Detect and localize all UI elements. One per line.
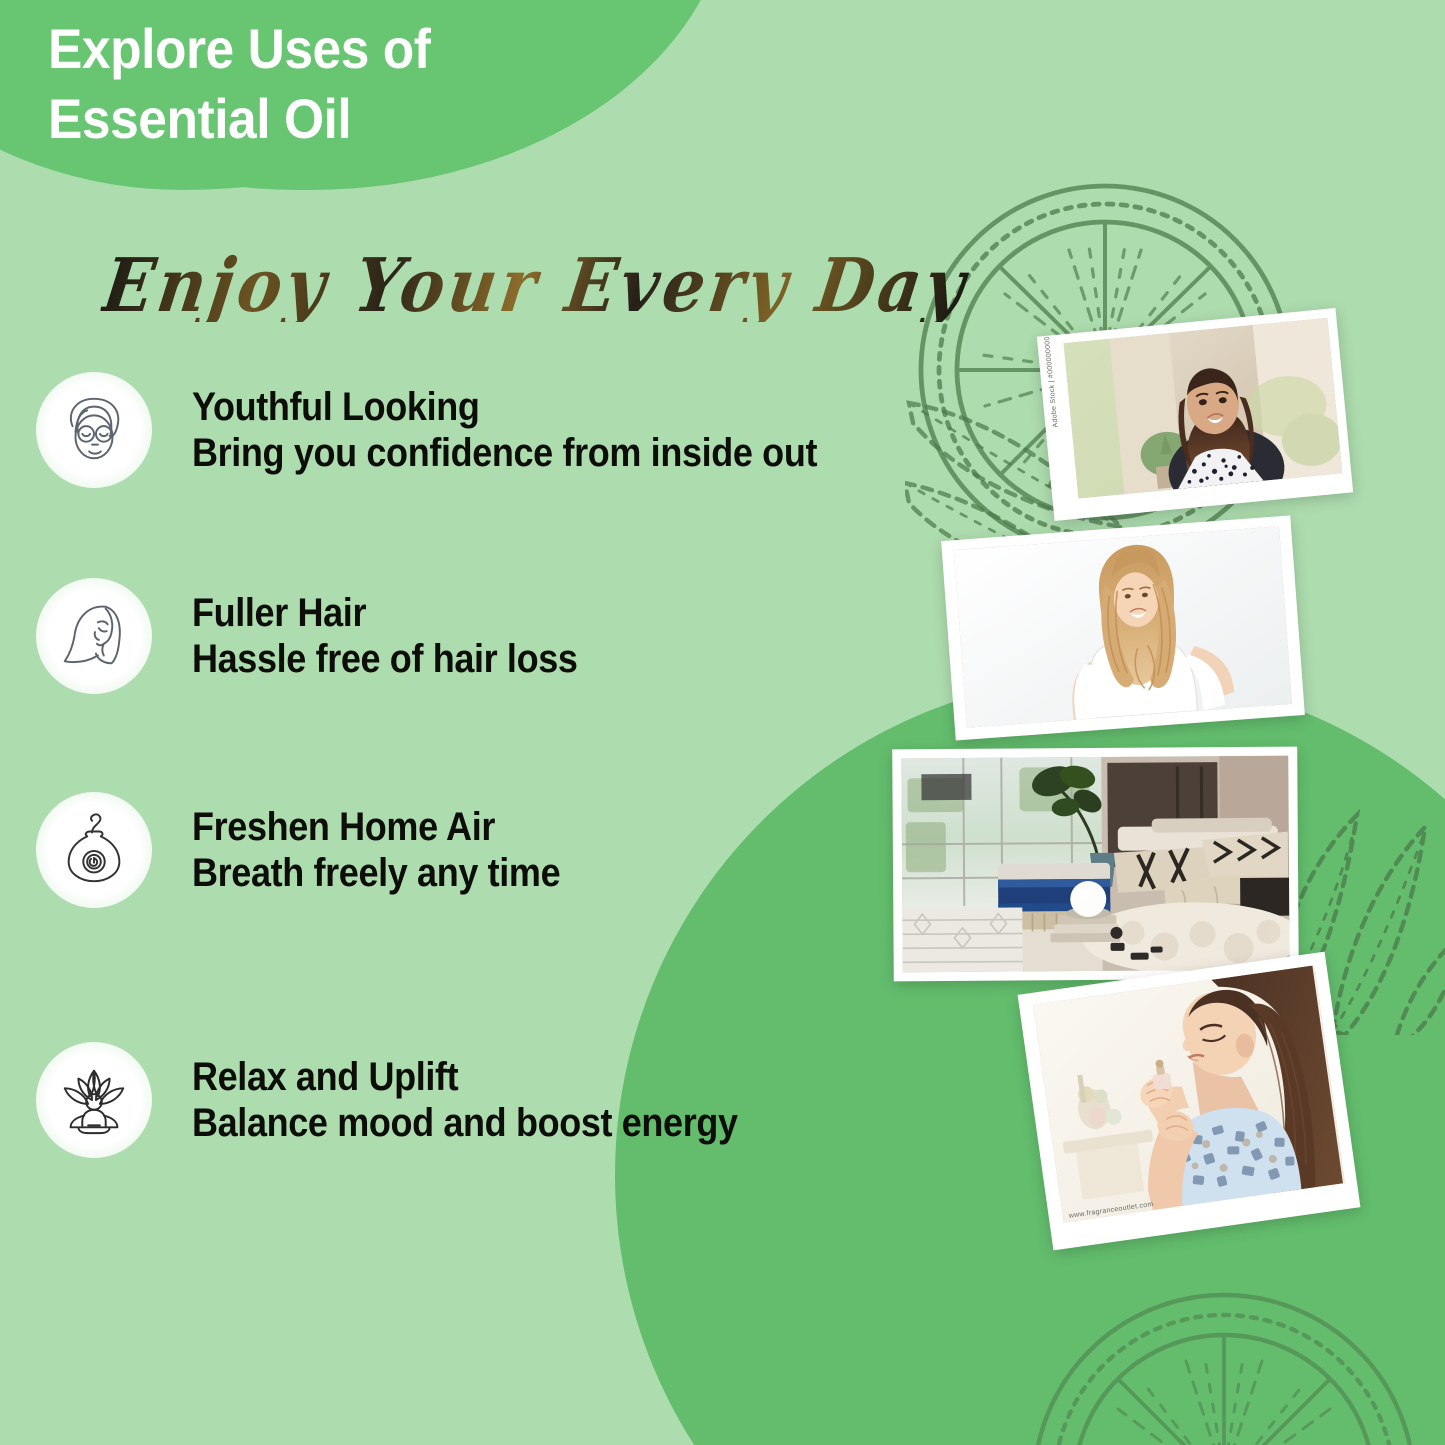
feature-heading: Youthful Looking <box>192 384 817 430</box>
feature-heading: Freshen Home Air <box>192 804 560 850</box>
photo-wavy-hair-woman <box>941 515 1305 740</box>
feature-heading: Fuller Hair <box>192 590 578 636</box>
photo-living-room-diffuser-image <box>901 756 1289 973</box>
feature-item-youthful-looking: Youthful Looking Bring you confidence fr… <box>36 372 887 488</box>
feature-item-fuller-hair: Fuller Hair Hassle free of hair loss <box>36 578 620 694</box>
long-hair-profile-icon <box>36 578 152 694</box>
photo-wavy-hair-woman-image <box>954 526 1292 727</box>
feature-text: Youthful Looking Bring you confidence fr… <box>192 384 817 477</box>
photo-credit: Adobe Stock | #000000000 <box>1044 336 1060 428</box>
feature-subheading: Bring you confidence from inside out <box>192 430 817 476</box>
feature-item-freshen-home-air: Freshen Home Air Breath freely any time <box>36 792 601 908</box>
feature-subheading: Hassle free of hair loss <box>192 636 578 682</box>
feature-subheading: Breath freely any time <box>192 850 560 896</box>
photo-perfume-woman-image <box>1033 965 1345 1222</box>
tagline: Enjoy Your Every Day <box>99 248 973 322</box>
photo-living-room-diffuser <box>892 747 1299 982</box>
page-title: Explore Uses of Essential Oil <box>48 14 431 154</box>
aroma-diffuser-icon <box>36 792 152 908</box>
feature-heading: Relax and Uplift <box>192 1054 738 1100</box>
feature-text: Relax and Uplift Balance mood and boost … <box>192 1054 738 1147</box>
lotus-meditation-icon <box>36 1042 152 1158</box>
infographic-canvas: Explore Uses of Essential Oil Enjoy Your… <box>0 0 1445 1445</box>
feature-subheading: Balance mood and boost energy <box>192 1100 738 1146</box>
photo-smiling-woman: Adobe Stock | #000000000 <box>1037 308 1353 521</box>
feature-text: Freshen Home Air Breath freely any time <box>192 804 560 897</box>
feature-item-relax-and-uplift: Relax and Uplift Balance mood and boost … <box>36 1042 798 1158</box>
facial-mask-icon <box>36 372 152 488</box>
feature-list: Youthful Looking Bring you confidence fr… <box>0 0 1445 1445</box>
photo-smiling-woman-image <box>1064 318 1343 499</box>
photo-perfume-woman: www.fragranceoutlet.com <box>1018 952 1361 1251</box>
feature-text: Fuller Hair Hassle free of hair loss <box>192 590 578 683</box>
